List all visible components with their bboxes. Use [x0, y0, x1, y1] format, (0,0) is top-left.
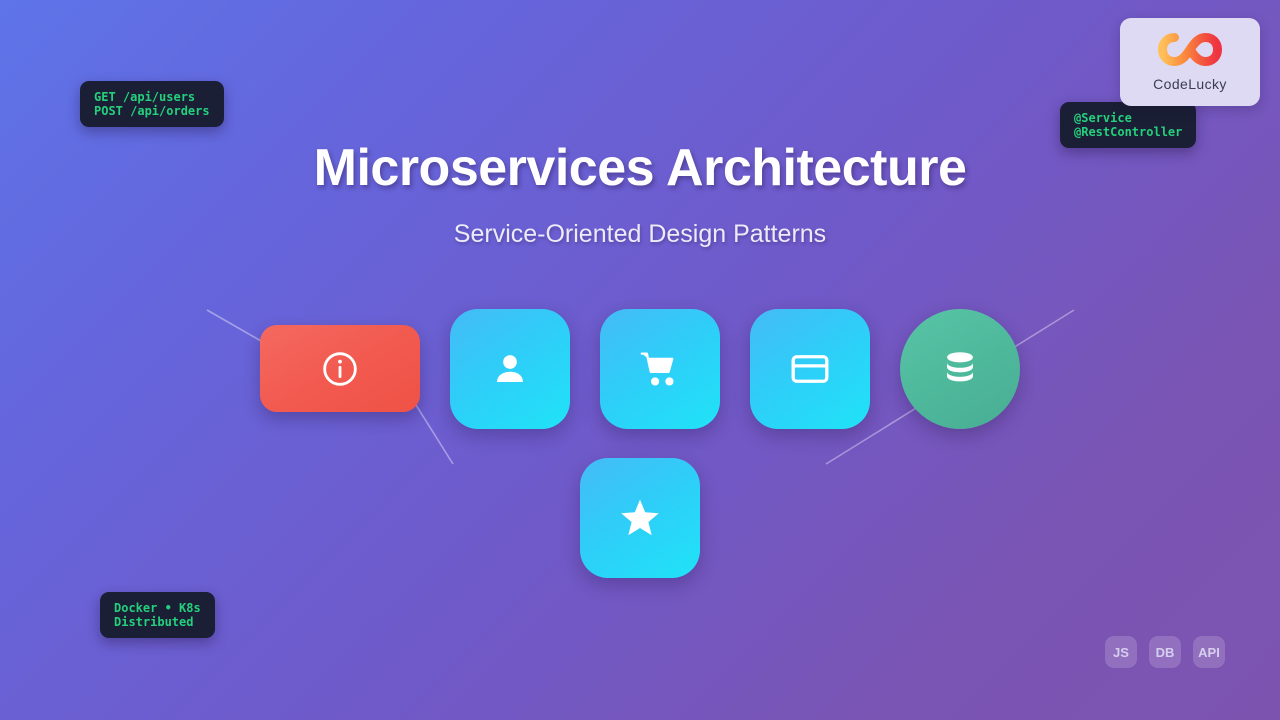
- code-badge-infra: Docker • K8s Distributed: [100, 592, 215, 638]
- info-circle-icon: [320, 349, 360, 389]
- code-badge-annotations: @Service @RestController: [1060, 102, 1196, 148]
- tech-chip-api[interactable]: API: [1193, 636, 1225, 668]
- star-icon: [617, 495, 663, 541]
- connector-line-left-bottom: [416, 405, 453, 464]
- service-node-info[interactable]: [260, 325, 420, 412]
- tech-chip-db[interactable]: DB: [1149, 636, 1181, 668]
- tech-chip-group: JS DB API: [1105, 636, 1225, 668]
- infinity-logo-icon: [1158, 32, 1222, 73]
- service-node-payment[interactable]: [750, 309, 870, 429]
- service-node-gateway[interactable]: [580, 458, 700, 578]
- service-node-user[interactable]: [450, 309, 570, 429]
- brand-logo-card[interactable]: CodeLucky: [1120, 18, 1260, 106]
- brand-name: CodeLucky: [1153, 76, 1227, 92]
- credit-card-icon: [789, 348, 831, 390]
- page-subtitle: Service-Oriented Design Patterns: [0, 220, 1280, 249]
- code-badge-api: GET /api/users POST /api/orders: [80, 81, 224, 127]
- connector-line-left-top: [207, 310, 268, 345]
- shopping-cart-icon: [639, 348, 681, 390]
- database-icon: [939, 348, 981, 390]
- person-icon: [489, 348, 531, 390]
- service-node-cart[interactable]: [600, 309, 720, 429]
- slide-canvas: Microservices Architecture Service-Orien…: [0, 0, 1280, 720]
- tech-chip-js[interactable]: JS: [1105, 636, 1137, 668]
- service-node-database[interactable]: [900, 309, 1020, 429]
